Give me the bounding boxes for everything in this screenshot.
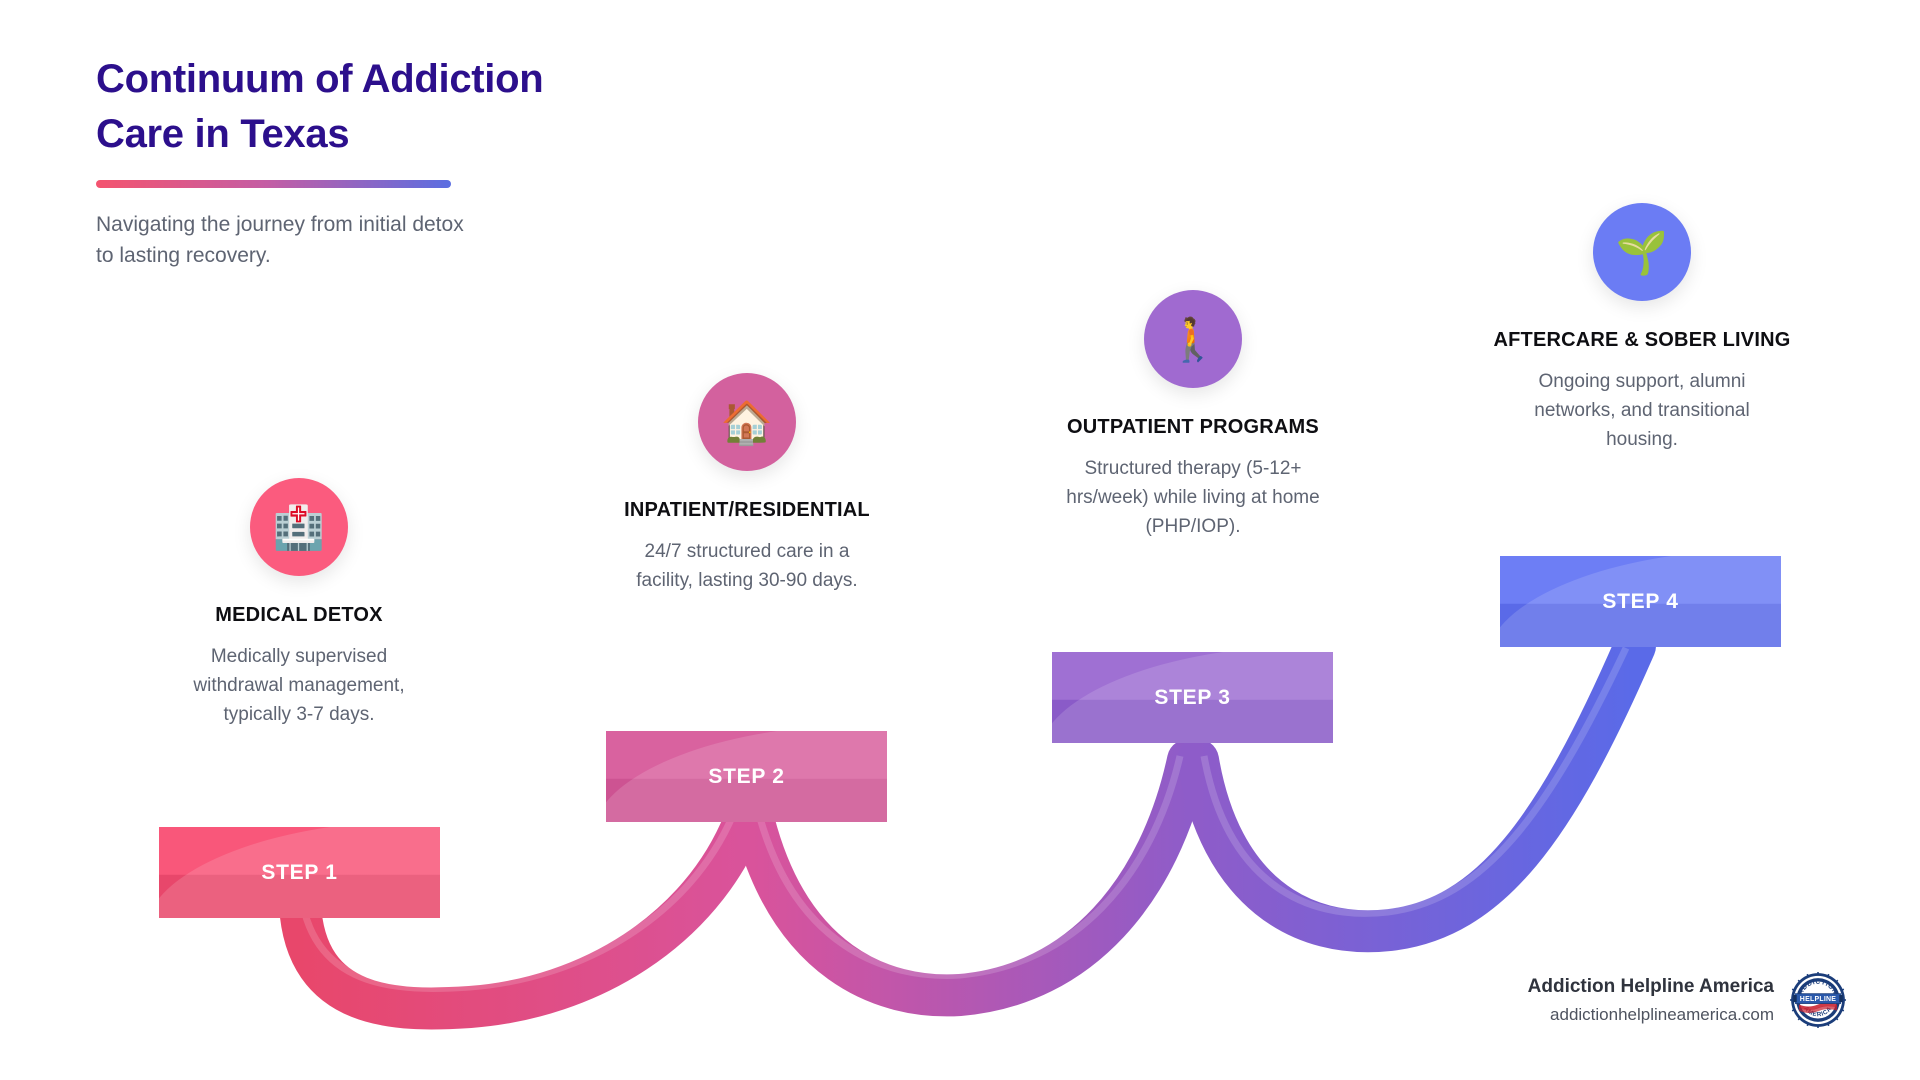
step-4-icon-circle: 🌱 [1593,203,1691,301]
step-3-banner[interactable]: STEP 3 [1052,652,1333,743]
logo-center-text: HELPLINE [1800,996,1837,1003]
step-3-description: Structured therapy (5-12+ hrs/week) whil… [1043,455,1343,542]
step-1-banner-label: STEP 1 [159,827,440,918]
step-2-icon-circle: 🏠 [698,373,796,471]
page-subtitle: Navigating the journey from initial deto… [96,210,576,271]
house-icon: 🏠 [721,402,773,444]
step-2-banner[interactable]: STEP 2 [606,731,887,822]
step-3-banner-label: STEP 3 [1052,652,1333,743]
step-1-banner[interactable]: STEP 1 [159,827,440,918]
addiction-helpline-america-logo: ADDICTION AMERICA HELPLINE [1790,972,1846,1028]
step-column-3: 🚶 OUTPATIENT PROGRAMS Structured therapy… [1043,290,1343,541]
step-column-2: 🏠 INPATIENT/RESIDENTIAL 24/7 structured … [597,373,897,596]
step-3-heading: OUTPATIENT PROGRAMS [1043,414,1343,441]
title-accent-rule [96,180,451,188]
footer-brand-name: Addiction Helpline America [1528,973,1774,1002]
step-1-icon-circle: 🏥 [250,478,348,576]
step-4-heading: AFTERCARE & SOBER LIVING [1492,327,1792,354]
step-4-banner-label: STEP 4 [1500,556,1781,647]
walking-person-icon: 🚶 [1167,319,1219,361]
step-column-4: 🌱 AFTERCARE & SOBER LIVING Ongoing suppo… [1492,203,1792,454]
step-2-banner-label: STEP 2 [606,731,887,822]
step-2-description: 24/7 structured care in a facility, last… [597,538,897,596]
step-1-heading: MEDICAL DETOX [149,602,449,629]
footer-website[interactable]: addictionhelplineamerica.com [1528,1002,1774,1028]
hospital-icon: 🏥 [273,507,325,549]
step-3-icon-circle: 🚶 [1144,290,1242,388]
page-title: Continuum of Addiction Care in Texas [96,52,716,162]
footer-block: Addiction Helpline America addictionhelp… [1528,972,1846,1028]
infographic-canvas: Continuum of Addiction Care in Texas Nav… [0,0,1920,1080]
header-block: Continuum of Addiction Care in Texas Nav… [96,52,716,271]
step-2-heading: INPATIENT/RESIDENTIAL [597,497,897,524]
step-4-description: Ongoing support, alumni networks, and tr… [1492,368,1792,455]
seedling-icon: 🌱 [1616,232,1668,274]
step-column-1: 🏥 MEDICAL DETOX Medically supervised wit… [149,478,449,729]
step-4-banner[interactable]: STEP 4 [1500,556,1781,647]
step-1-description: Medically supervised withdrawal manageme… [149,643,449,730]
footer-text: Addiction Helpline America addictionhelp… [1528,973,1774,1027]
